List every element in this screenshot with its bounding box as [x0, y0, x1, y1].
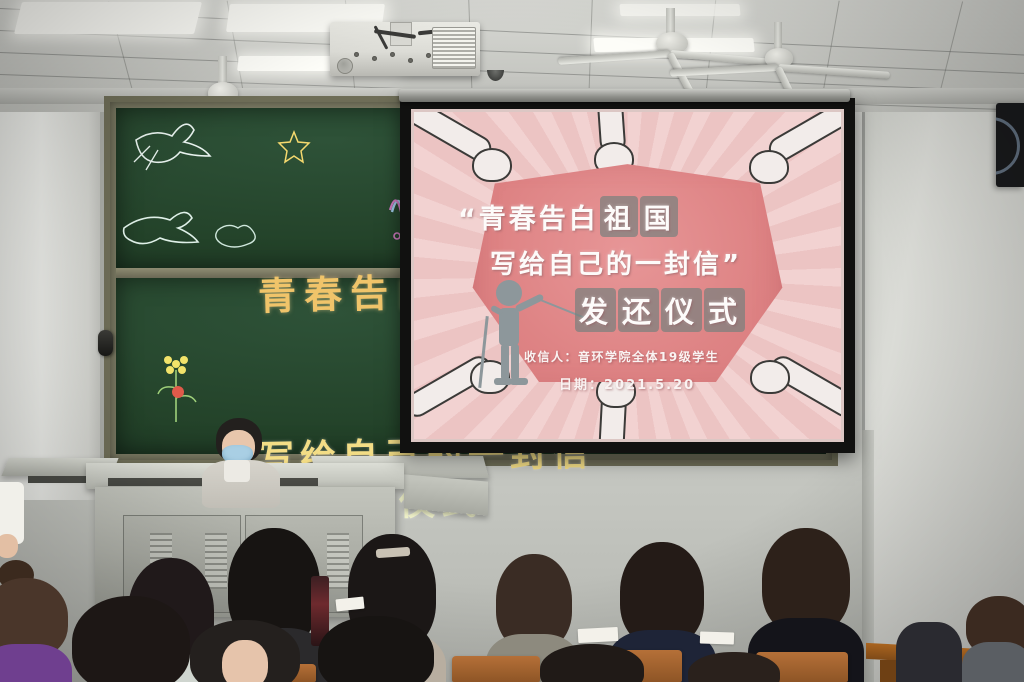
- slide-line3-b: 还: [618, 288, 659, 332]
- slide-title-line2: 写给自己的一封信”: [490, 244, 742, 281]
- audience-member: [190, 620, 308, 682]
- wall-seam: [862, 60, 865, 480]
- presenter-at-podium: [198, 418, 288, 498]
- slide-line1-prefix: “青春告白: [458, 204, 599, 235]
- ceiling-light-panel: [14, 2, 202, 34]
- audience-member: [66, 596, 198, 682]
- blackboard-knob[interactable]: [98, 330, 113, 356]
- audience-hair: [688, 652, 780, 682]
- left-pillar: [0, 70, 104, 500]
- paper-on-desk: [578, 627, 619, 643]
- slide-line3-a: 发: [575, 288, 616, 332]
- screen-surface: “青春告白祖国 写给自己的一封信” 发还仪式 收信人：音环学院全体19级学生 日…: [411, 109, 844, 442]
- fist-illustration: [750, 360, 790, 394]
- projector-lens-icon: [337, 58, 353, 74]
- audience-body: [896, 622, 962, 682]
- audience-hair: [540, 644, 644, 682]
- slide-line1-highlight-a: 祖: [600, 196, 638, 237]
- chair-back: [452, 656, 540, 682]
- presenter-collar: [224, 460, 250, 482]
- projection-screen: “青春告白祖国 写给自己的一封信” 发还仪式 收信人：音环学院全体19级学生 日…: [400, 98, 855, 453]
- audience-body: [962, 642, 1024, 682]
- slide-date-text: 日期：2021.5.20: [559, 374, 695, 393]
- audience-hair: [318, 616, 434, 682]
- audience-member: [688, 652, 784, 682]
- standing-person-left-edge: [0, 482, 34, 572]
- slide-line1-highlight-b: 国: [640, 196, 678, 237]
- audience-member: [540, 644, 648, 682]
- fist-illustration: [749, 150, 789, 184]
- ceiling-projector: [330, 22, 480, 76]
- slide-recipient-text: 收信人：音环学院全体19级学生: [524, 348, 719, 365]
- slide-line3-d: 式: [704, 288, 745, 332]
- audience-member: [896, 612, 966, 682]
- audience-body: [0, 644, 72, 682]
- screen-roller-housing[interactable]: [399, 89, 850, 102]
- projector-vent-icon: [432, 27, 476, 69]
- stick-figure-illustration: [486, 280, 540, 390]
- paper-on-desk: [700, 631, 734, 644]
- audience-hair: [72, 596, 190, 682]
- wall-clock: [996, 103, 1024, 187]
- slide-line3-c: 仪: [661, 288, 702, 332]
- slide-title-line1: “青春告白祖国: [458, 196, 679, 237]
- slide-title-line3: 发还仪式: [574, 288, 746, 332]
- podium-right-wing-side: [404, 474, 488, 515]
- fist-illustration: [472, 148, 512, 182]
- left-person-hand: [0, 534, 18, 558]
- ceiling-light-panel: [619, 4, 740, 16]
- audience-face: [222, 640, 268, 682]
- audience-member: [318, 616, 440, 682]
- presentation-slide: “青春告白祖国 写给自己的一封信” 发还仪式 收信人：音环学院全体19级学生 日…: [414, 112, 841, 439]
- clock-face-icon: [996, 117, 1020, 175]
- classroom-scene: 青春告白祖国 写给自己的一封信 发还仪式: [0, 0, 1024, 682]
- audience-member: [962, 596, 1024, 682]
